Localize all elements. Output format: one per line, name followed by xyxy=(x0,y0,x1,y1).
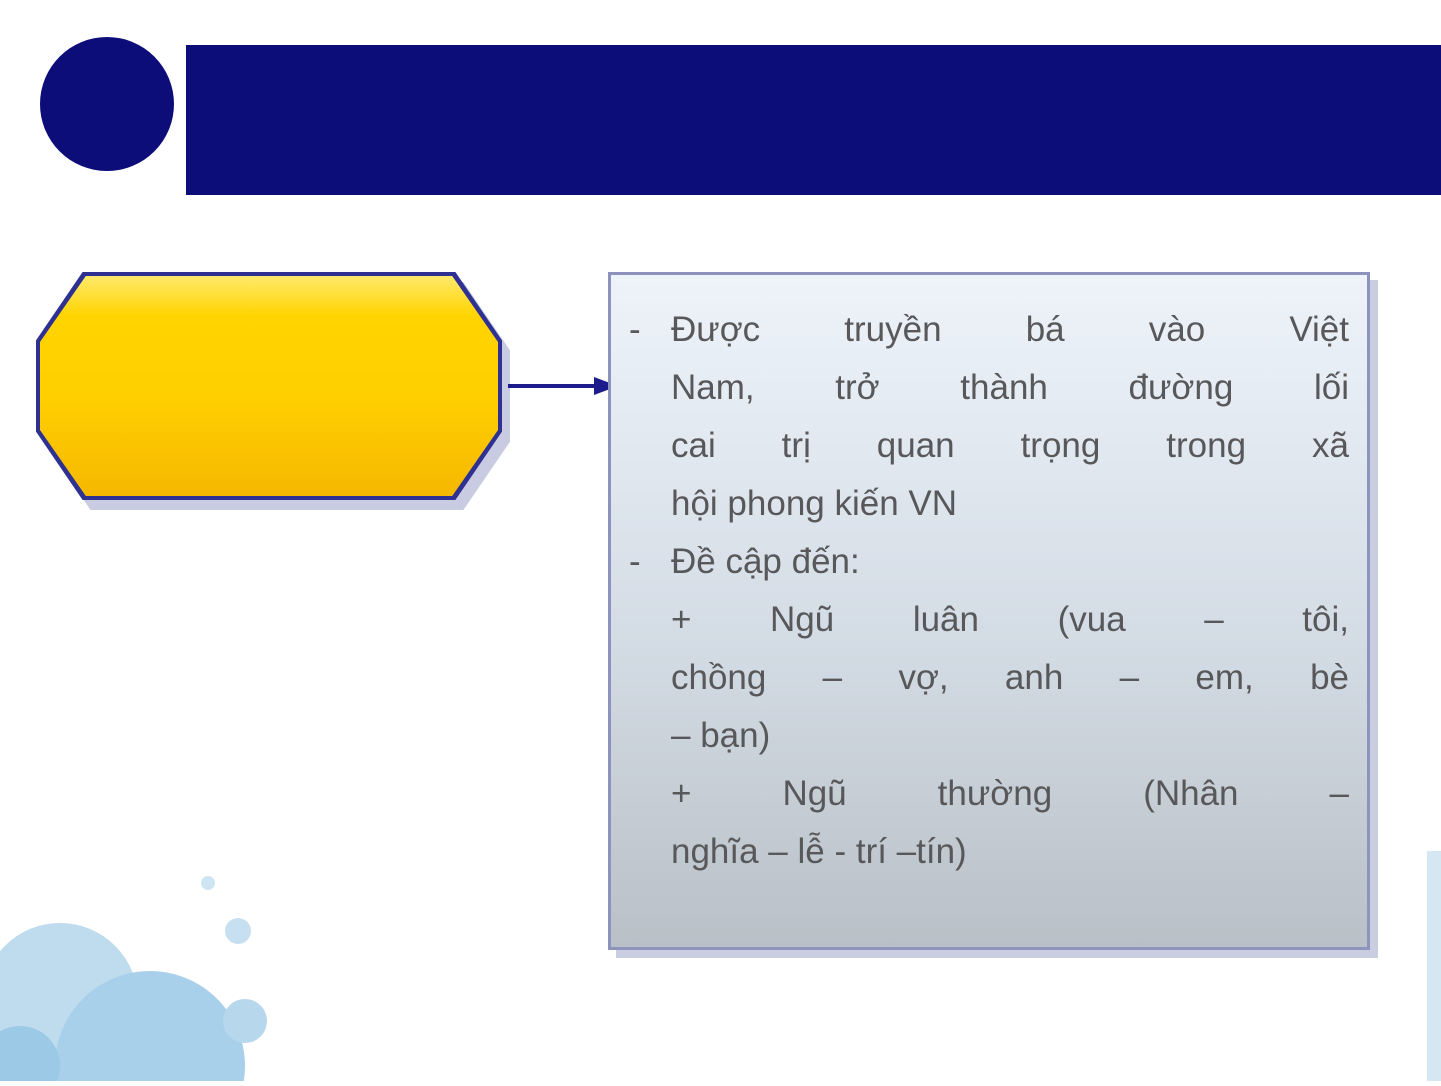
decorative-bubbles xyxy=(0,831,380,1081)
list-marker xyxy=(629,707,671,765)
list-item-text: Nam, trở thành đường lối xyxy=(671,359,1349,417)
header-band xyxy=(186,45,1441,195)
list-item: - Đề cập đến: xyxy=(629,533,1349,591)
callout-octagon-label xyxy=(36,272,502,500)
list-marker xyxy=(629,417,671,475)
callout-octagon xyxy=(36,272,516,512)
list-item-text: cai trị quan trọng trong xã xyxy=(671,417,1349,475)
list-item-text: + Ngũ luân (vua – tôi, xyxy=(671,591,1349,649)
circle-bullet-icon xyxy=(40,37,174,171)
list-item: Nam, trở thành đường lối xyxy=(629,359,1349,417)
arrow-right-icon xyxy=(508,374,618,398)
list-item: cai trị quan trọng trong xã xyxy=(629,417,1349,475)
list-item-text: chồng – vợ, anh – em, bè xyxy=(671,649,1349,707)
list-item: - Được truyền bá vào Việt xyxy=(629,301,1349,359)
list-item-text: + Ngũ thường (Nhân – xyxy=(671,765,1349,823)
list-marker xyxy=(629,359,671,417)
list-item-text: hội phong kiến VN xyxy=(671,475,1349,533)
list-item: + Ngũ thường (Nhân – xyxy=(629,765,1349,823)
list-item: hội phong kiến VN xyxy=(629,475,1349,533)
list-item: nghĩa – lễ - trí –tín) xyxy=(629,823,1349,881)
list-item-text: – bạn) xyxy=(671,707,1349,765)
list-marker xyxy=(629,823,671,881)
list-marker xyxy=(629,591,671,649)
list-marker xyxy=(629,649,671,707)
list-item: + Ngũ luân (vua – tôi, xyxy=(629,591,1349,649)
right-edge-decor xyxy=(1427,851,1441,1081)
list-item-text: nghĩa – lễ - trí –tín) xyxy=(671,823,1349,881)
list-marker xyxy=(629,475,671,533)
list-item-text: Được truyền bá vào Việt xyxy=(671,301,1349,359)
content-textbox: - Được truyền bá vào Việt Nam, trở thành… xyxy=(608,272,1370,950)
list-marker xyxy=(629,765,671,823)
list-item-text: Đề cập đến: xyxy=(671,533,1349,591)
list-item: chồng – vợ, anh – em, bè xyxy=(629,649,1349,707)
list-marker: - xyxy=(629,533,671,591)
list-marker: - xyxy=(629,301,671,359)
list-item: – bạn) xyxy=(629,707,1349,765)
